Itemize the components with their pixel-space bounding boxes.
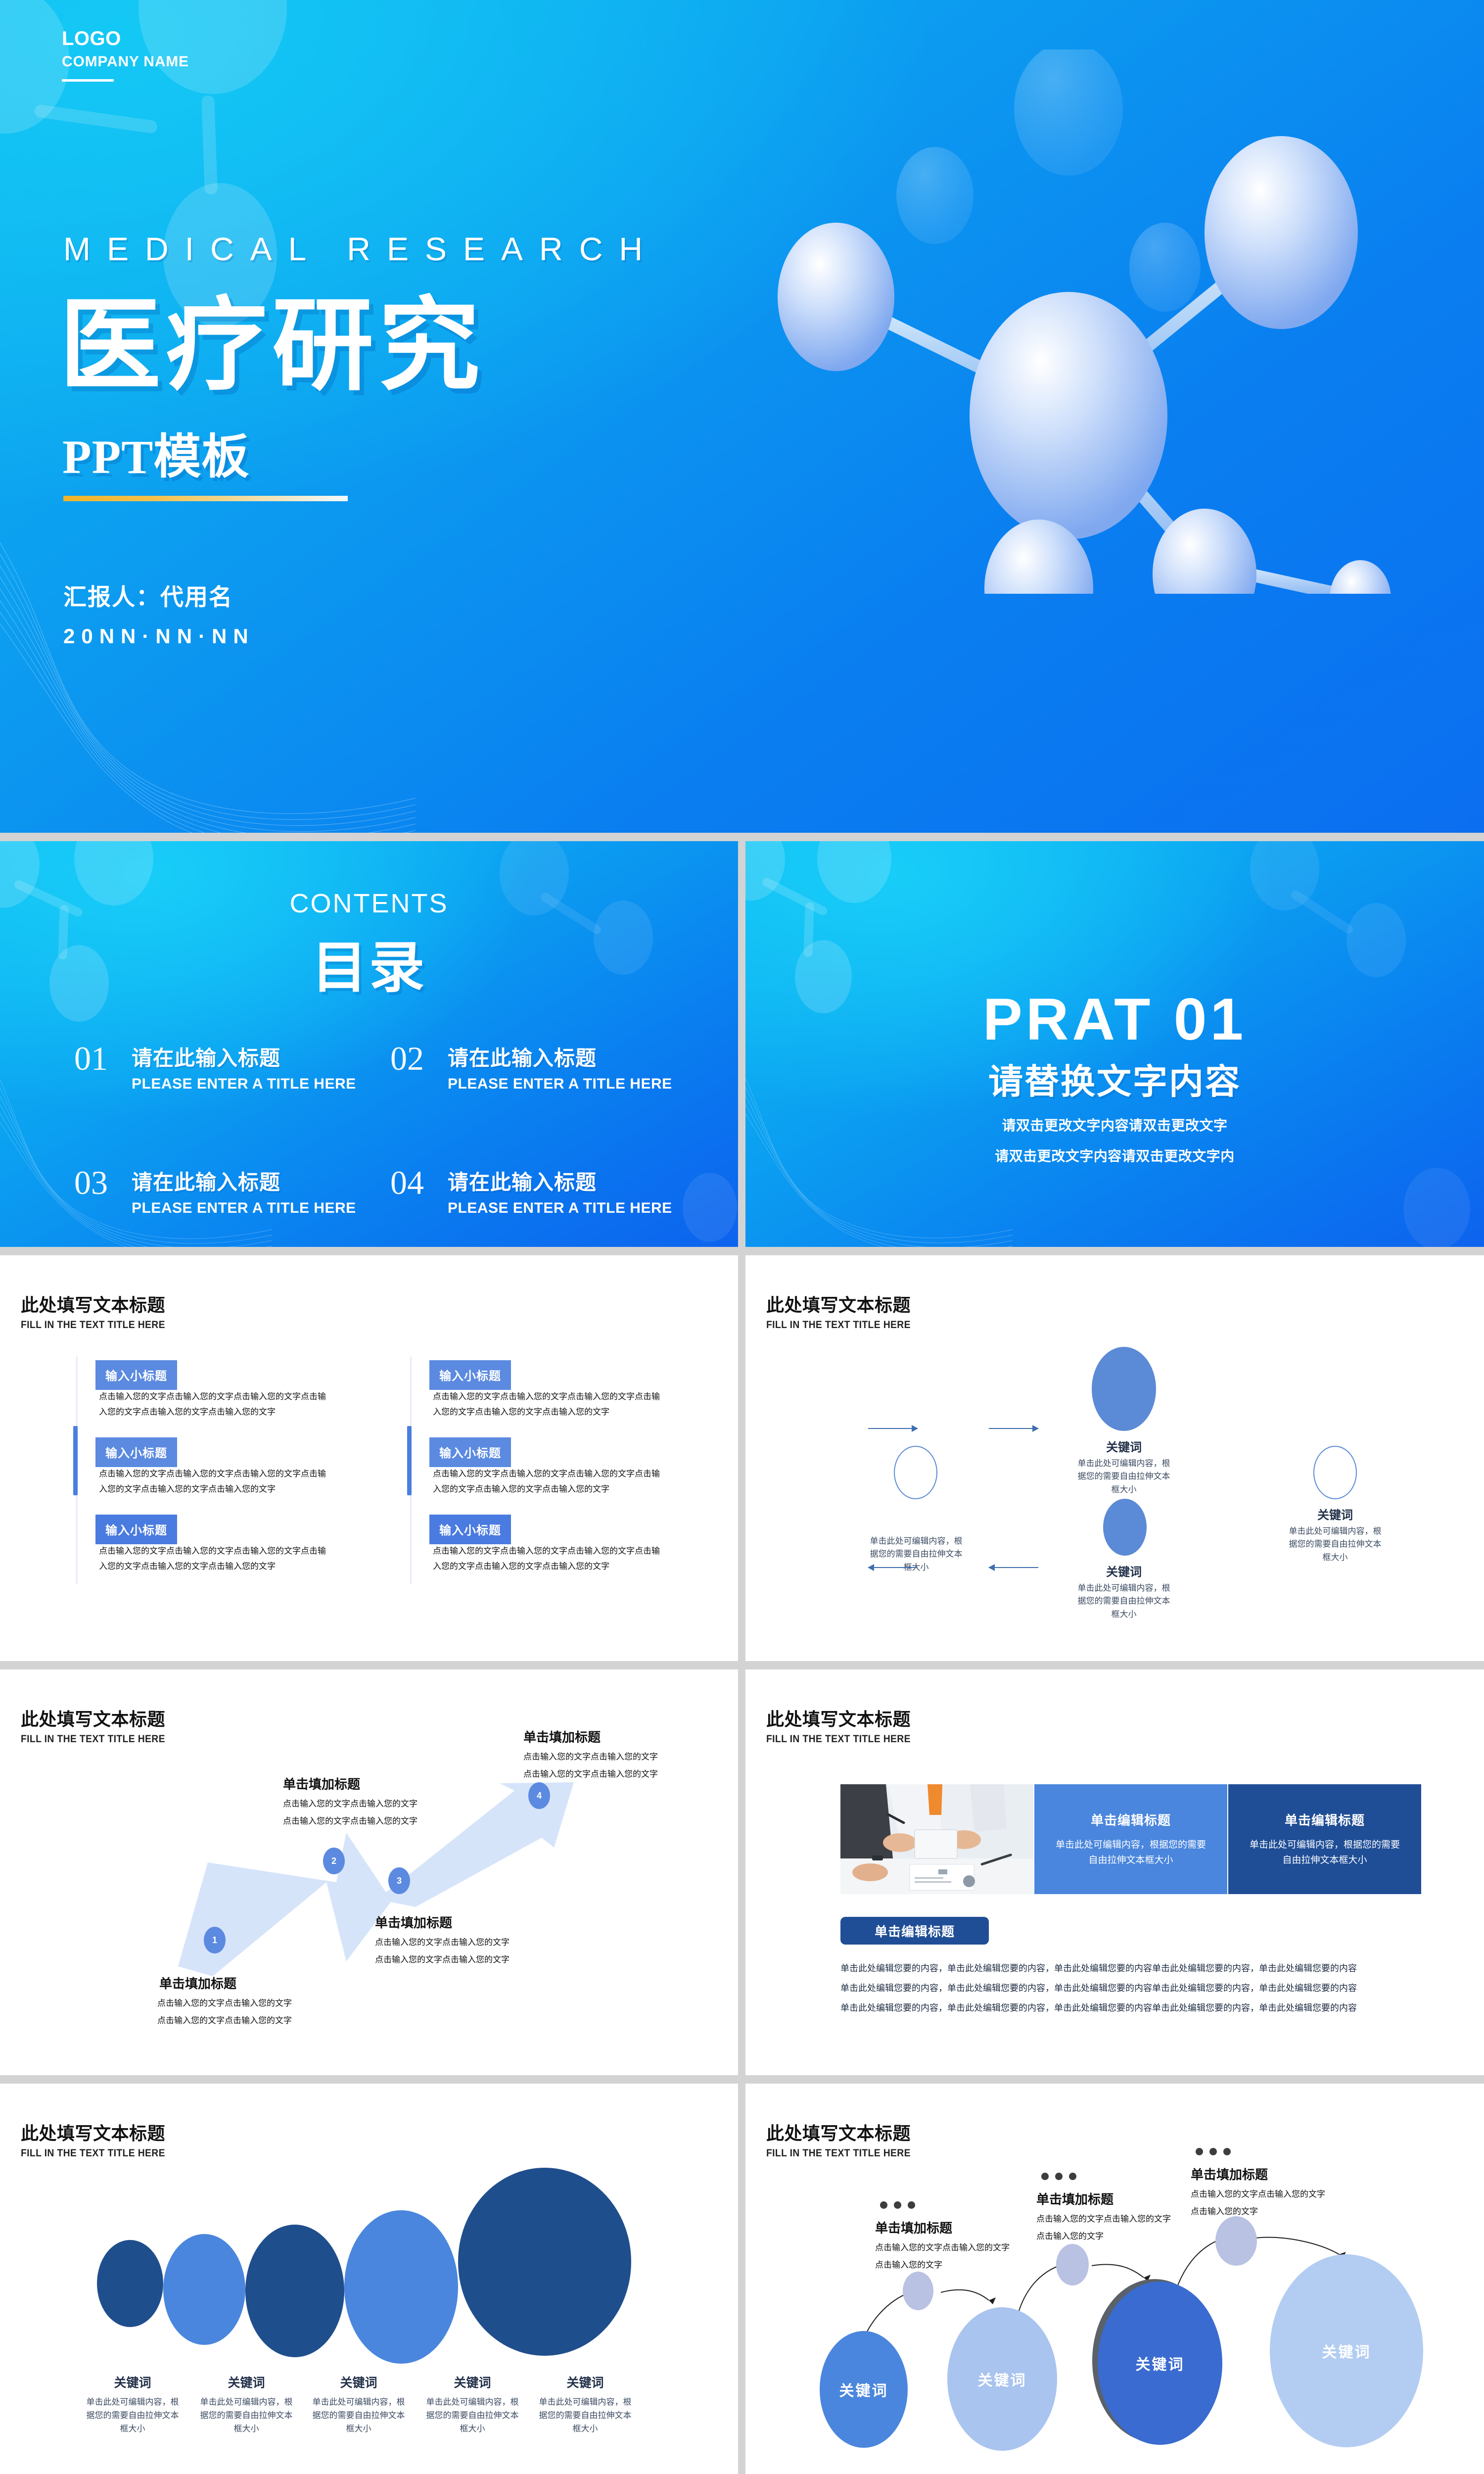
page-subtitle: FILL IN THE TEXT TITLE HERE xyxy=(21,1319,165,1331)
cycle-node-bottom[interactable] xyxy=(1103,1499,1147,1556)
step-title-1: 单击填加标题 xyxy=(159,1974,236,1992)
slide-table-of-contents: CONTENTS 目录 01 请在此输入标题 PLEASE ENTER A TI… xyxy=(0,841,738,1247)
cycle-body-right: 单击此处可编辑内容，根据您的需要自由拉伸文本框大小 xyxy=(1286,1525,1385,1564)
cover-chinese-title: 医疗研究 xyxy=(59,292,485,401)
slide-bubble-flow-chart: 此处填写文本标题 FILL IN THE TEXT TITLE HERE xyxy=(745,2084,1484,2474)
paragraph-line-3: 单击此处编辑您要的内容，单击此处编辑您要的内容，单击此处编辑您要的内容单击此处编… xyxy=(840,1998,1357,2018)
chart-caption-3-label: 关键词 xyxy=(309,2373,408,2391)
annotation-line-3a: 点击输入您的文字点击输入您的文字 xyxy=(1191,2186,1325,2202)
info-card-1[interactable]: 单击编辑标题 单击此处可编辑内容，根据您的需要自由拉伸文本框大小 xyxy=(1034,1784,1227,1894)
bubble-2[interactable]: 关键词 xyxy=(947,2307,1057,2451)
subtitle-chip-3[interactable]: 输入小标题 xyxy=(95,1515,177,1544)
step-marker-4[interactable]: 4 xyxy=(528,1782,550,1809)
annotation-line-1b: 点击输入您的文字 xyxy=(875,2257,942,2273)
cycle-arrow-top-left xyxy=(868,1428,918,1429)
chart-caption-4-label: 关键词 xyxy=(423,2373,522,2391)
company-name-text: COMPANY NAME xyxy=(62,53,189,70)
section-line-2: 请双击更改文字内容请双击更改文字内 xyxy=(745,1145,1484,1165)
chart-ellipse-1 xyxy=(97,2240,163,2327)
paragraph-line-1: 单击此处编辑您要的内容，单击此处编辑您要的内容，单击此处编辑您要的内容单击此处编… xyxy=(840,1959,1357,1978)
step-body-3-line2: 点击输入您的文字点击输入您的文字 xyxy=(375,1951,510,1968)
dots-decoration-3 xyxy=(1196,2148,1231,2155)
page-subtitle: FILL IN THE TEXT TITLE HERE xyxy=(766,1319,911,1331)
toc-item-subtitle: PLEASE ENTER A TITLE HERE xyxy=(132,1076,356,1093)
deck-row-5: 此处填写文本标题 FILL IN THE TEXT TITLE HERE 关键词… xyxy=(0,2084,1484,2474)
chart-caption-2-label: 关键词 xyxy=(197,2373,296,2391)
cover-date: 20NN·NN·NN xyxy=(63,624,255,648)
zigzag-arrow-shape xyxy=(0,1669,738,2075)
section-pill-button[interactable]: 单击编辑标题 xyxy=(840,1917,989,1945)
paragraph-line-2: 单击此处编辑您要的内容，单击此处编辑您要的内容，单击此处编辑您要的内容单击此处编… xyxy=(840,1979,1357,1998)
step-body-2-line2: 点击输入您的文字点击输入您的文字 xyxy=(283,1813,417,1829)
page-title: 此处填写文本标题 xyxy=(21,1291,178,1317)
info-card-2-title: 单击编辑标题 xyxy=(1285,1810,1365,1829)
slide-cover: LOGO COMPANY NAME MEDICAL RESEARCH 医疗研究 … xyxy=(0,0,1484,833)
slide-cycle-diagram: 此处填写文本标题 FILL IN THE TEXT TITLE HERE 关键词… xyxy=(745,1255,1484,1661)
bubble-3[interactable]: 关键词 xyxy=(1098,2282,1222,2445)
subtitle-body-5: 点击输入您的文字点击输入您的文字点击输入您的文字点击输入您的文字点击输入您的文字… xyxy=(433,1466,665,1497)
cycle-body-bottom: 单击此处可编辑内容，根据您的需要自由拉伸文本框大小 xyxy=(1074,1582,1173,1621)
cycle-node-left[interactable] xyxy=(894,1446,937,1499)
subtitle-body-2: 点击输入您的文字点击输入您的文字点击输入您的文字点击输入您的文字点击输入您的文字… xyxy=(99,1466,331,1497)
connector-bubble-2 xyxy=(1056,2244,1089,2285)
step-body-1-line1: 点击输入您的文字点击输入您的文字 xyxy=(157,1995,292,2011)
dots-decoration-1 xyxy=(880,2201,915,2209)
step-title-4: 单击填加标题 xyxy=(523,1727,601,1746)
page-subtitle: FILL IN THE TEXT TITLE HERE xyxy=(766,1733,911,1745)
page-title: 此处填写文本标题 xyxy=(766,1705,923,1731)
toc-number: 02 xyxy=(390,1042,436,1075)
toc-english-label: CONTENTS xyxy=(0,888,738,919)
section-line-1: 请双击更改文字内容请双击更改文字 xyxy=(745,1115,1484,1135)
deck-row-2: CONTENTS 目录 01 请在此输入标题 PLEASE ENTER A TI… xyxy=(0,841,1484,1247)
step-marker-1[interactable]: 1 xyxy=(204,1927,226,1953)
info-card-1-title: 单击编辑标题 xyxy=(1091,1810,1171,1829)
team-meeting-photo xyxy=(840,1784,1033,1894)
cover-subtitle: PPT模板 xyxy=(62,418,249,487)
cycle-arrow-bottom-right xyxy=(989,1567,1038,1568)
logo-text: LOGO xyxy=(62,28,189,49)
chart-caption-3: 关键词 单击此处可编辑内容，根据您的需要自由拉伸文本框大小 xyxy=(309,2373,408,2436)
slide-header: 此处填写文本标题 FILL IN THE TEXT TITLE HERE xyxy=(766,1705,923,1745)
info-card-1-body: 单击此处可编辑内容，根据您的需要自由拉伸文本框大小 xyxy=(1051,1838,1210,1868)
deck-row-1: LOGO COMPANY NAME MEDICAL RESEARCH 医疗研究 … xyxy=(0,0,1484,833)
subtitle-chip-4[interactable]: 输入小标题 xyxy=(429,1360,511,1390)
step-marker-2[interactable]: 2 xyxy=(323,1848,345,1874)
page-title: 此处填写文本标题 xyxy=(21,2119,178,2145)
cover-english-title: MEDICAL RESEARCH xyxy=(63,230,659,268)
chart-caption-1-desc: 单击此处可编辑内容，根据您的需要自由拉伸文本框大小 xyxy=(83,2395,182,2436)
rail-highlight-right xyxy=(407,1426,412,1495)
toc-item-04[interactable]: 04 请在此输入标题 PLEASE ENTER A TITLE HERE xyxy=(390,1166,678,1217)
slide-header: 此处填写文本标题 FILL IN THE TEXT TITLE HERE xyxy=(21,2119,178,2159)
deck-row-4: 此处填写文本标题 FILL IN THE TEXT TITLE HERE 1 2… xyxy=(0,1669,1484,2075)
chart-ellipse-2 xyxy=(163,2234,245,2345)
slide-header: 此处填写文本标题 FILL IN THE TEXT TITLE HERE xyxy=(21,1291,178,1331)
annotation-line-1a: 点击输入您的文字点击输入您的文字 xyxy=(875,2239,1010,2256)
annotation-line-2a: 点击输入您的文字点击输入您的文字 xyxy=(1036,2211,1171,2227)
page-title: 此处填写文本标题 xyxy=(766,1291,923,1317)
connector-bubble-3 xyxy=(1215,2216,1257,2266)
cover-accent-bar xyxy=(63,496,348,501)
toc-number: 01 xyxy=(74,1042,120,1075)
wave-lines-decoration xyxy=(0,476,416,833)
annotation-title-1: 单击填加标题 xyxy=(875,2218,952,2236)
photo-illustration xyxy=(840,1784,1033,1894)
chart-caption-4: 关键词 单击此处可编辑内容，根据您的需要自由拉伸文本框大小 xyxy=(423,2373,522,2436)
toc-number: 03 xyxy=(74,1166,120,1199)
cycle-body-top: 单击此处可编辑内容，根据您的需要自由拉伸文本框大小 xyxy=(1074,1457,1173,1496)
bubble-1[interactable]: 关键词 xyxy=(820,2331,908,2448)
step-marker-3[interactable]: 3 xyxy=(388,1867,410,1894)
cycle-label-right: 关键词 xyxy=(1305,1505,1365,1522)
logo-underline xyxy=(62,79,114,82)
slide-text-blocks: 此处填写文本标题 FILL IN THE TEXT TITLE HERE 输入小… xyxy=(0,1255,738,1661)
annotation-line-3b: 点击输入您的文字 xyxy=(1191,2203,1258,2220)
toc-item-03[interactable]: 03 请在此输入标题 PLEASE ENTER A TITLE HERE xyxy=(74,1166,362,1217)
subtitle-body-4: 点击输入您的文字点击输入您的文字点击输入您的文字点击输入您的文字点击输入您的文字… xyxy=(433,1389,665,1420)
subtitle-chip-6[interactable]: 输入小标题 xyxy=(429,1515,511,1544)
toc-item-02[interactable]: 02 请在此输入标题 PLEASE ENTER A TITLE HERE xyxy=(390,1042,678,1093)
step-body-2-line1: 点击输入您的文字点击输入您的文字 xyxy=(283,1796,417,1812)
section-title: 请替换文字内容 xyxy=(745,1054,1484,1104)
molecule-graphic-icon xyxy=(693,49,1484,594)
info-card-2-body: 单击此处可编辑内容，根据您的需要自由拉伸文本框大小 xyxy=(1245,1838,1404,1868)
cycle-arrow-bottom-left xyxy=(868,1567,918,1568)
toc-item-title: 请在此输入标题 xyxy=(132,1166,356,1196)
chart-caption-3-desc: 单击此处可编辑内容，根据您的需要自由拉伸文本框大小 xyxy=(309,2395,408,2436)
chart-caption-1-label: 关键词 xyxy=(83,2373,182,2391)
chart-caption-5: 关键词 单击此处可编辑内容，根据您的需要自由拉伸文本框大小 xyxy=(536,2373,635,2436)
toc-item-subtitle: PLEASE ENTER A TITLE HERE xyxy=(448,1200,672,1217)
cycle-label-top: 关键词 xyxy=(1094,1437,1154,1455)
toc-chinese-label: 目录 xyxy=(0,923,738,1003)
section-number: PRAT 01 xyxy=(745,990,1484,1049)
toc-item-title: 请在此输入标题 xyxy=(132,1042,356,1072)
subtitle-chip-2[interactable]: 输入小标题 xyxy=(95,1437,177,1467)
page-subtitle: FILL IN THE TEXT TITLE HERE xyxy=(21,2147,165,2159)
toc-item-subtitle: PLEASE ENTER A TITLE HERE xyxy=(448,1076,672,1093)
toc-item-01[interactable]: 01 请在此输入标题 PLEASE ENTER A TITLE HERE xyxy=(74,1042,362,1093)
chart-caption-4-desc: 单击此处可编辑内容，根据您的需要自由拉伸文本框大小 xyxy=(423,2395,522,2436)
deck-row-3: 此处填写文本标题 FILL IN THE TEXT TITLE HERE 输入小… xyxy=(0,1255,1484,1661)
annotation-title-2: 单击填加标题 xyxy=(1036,2189,1113,2208)
chart-ellipse-5 xyxy=(458,2168,631,2356)
cover-presenter: 汇报人：代用名 xyxy=(63,578,233,612)
bubble-4[interactable]: 关键词 xyxy=(1270,2254,1423,2447)
dots-decoration-2 xyxy=(1041,2173,1076,2180)
toc-item-grid: 01 请在此输入标题 PLEASE ENTER A TITLE HERE 02 … xyxy=(74,1042,678,1217)
cycle-label-bottom: 关键词 xyxy=(1094,1562,1154,1579)
info-card-2[interactable]: 单击编辑标题 单击此处可编辑内容，根据您的需要自由拉伸文本框大小 xyxy=(1228,1784,1421,1894)
subtitle-body-6: 点击输入您的文字点击输入您的文字点击输入您的文字点击输入您的文字点击输入您的文字… xyxy=(433,1543,665,1574)
toc-item-title: 请在此输入标题 xyxy=(448,1166,672,1196)
chart-ellipse-4 xyxy=(344,2210,458,2364)
slide-deck: LOGO COMPANY NAME MEDICAL RESEARCH 医疗研究 … xyxy=(0,0,1484,2474)
subtitle-body-3: 点击输入您的文字点击输入您的文字点击输入您的文字点击输入您的文字点击输入您的文字… xyxy=(99,1543,331,1574)
step-body-1-line2: 点击输入您的文字点击输入您的文字 xyxy=(157,2012,292,2029)
section-divider-text-block: PRAT 01 请替换文字内容 请双击更改文字内容请双击更改文字 请双击更改文字… xyxy=(745,990,1484,1165)
chart-caption-2: 关键词 单击此处可编辑内容，根据您的需要自由拉伸文本框大小 xyxy=(197,2373,296,2436)
cover-logo-block: LOGO COMPANY NAME xyxy=(62,28,189,82)
step-body-4-line2: 点击输入您的文字点击输入您的文字 xyxy=(523,1766,658,1782)
rail-highlight-left xyxy=(73,1426,78,1495)
chart-ellipse-3 xyxy=(245,2225,344,2357)
cycle-arrow-top-right xyxy=(989,1428,1038,1429)
step-title-3: 单击填加标题 xyxy=(375,1913,452,1931)
slide-growth-arrow: 此处填写文本标题 FILL IN THE TEXT TITLE HERE 1 2… xyxy=(0,1669,738,2075)
step-body-4-line1: 点击输入您的文字点击输入您的文字 xyxy=(523,1749,658,1765)
chart-caption-1: 关键词 单击此处可编辑内容，根据您的需要自由拉伸文本框大小 xyxy=(83,2373,182,2436)
subtitle-chip-5[interactable]: 输入小标题 xyxy=(429,1437,511,1467)
connector-bubble-1 xyxy=(903,2272,933,2310)
slide-graduated-ellipses-chart: 此处填写文本标题 FILL IN THE TEXT TITLE HERE 关键词… xyxy=(0,2084,738,2474)
toc-item-subtitle: PLEASE ENTER A TITLE HERE xyxy=(132,1200,356,1217)
subtitle-chip-1[interactable]: 输入小标题 xyxy=(95,1360,177,1390)
slide-photo-cards: 此处填写文本标题 FILL IN THE TEXT TITLE HERE xyxy=(745,1669,1484,2075)
annotation-title-3: 单击填加标题 xyxy=(1191,2165,1268,2183)
toc-item-title: 请在此输入标题 xyxy=(448,1042,672,1072)
chart-caption-5-desc: 单击此处可编辑内容，根据您的需要自由拉伸文本框大小 xyxy=(536,2395,635,2436)
cycle-body-left: 单击此处可编辑内容，根据您的需要自由拉伸文本框大小 xyxy=(867,1535,966,1574)
step-title-2: 单击填加标题 xyxy=(283,1774,360,1793)
toc-number: 04 xyxy=(390,1166,436,1199)
annotation-line-2b: 点击输入您的文字 xyxy=(1036,2228,1104,2244)
chart-caption-5-label: 关键词 xyxy=(536,2373,635,2391)
subtitle-body-1: 点击输入您的文字点击输入您的文字点击输入您的文字点击输入您的文字点击输入您的文字… xyxy=(99,1389,331,1420)
slide-section-divider: PRAT 01 请替换文字内容 请双击更改文字内容请双击更改文字 请双击更改文字… xyxy=(745,841,1484,1247)
slide-header: 此处填写文本标题 FILL IN THE TEXT TITLE HERE xyxy=(766,1291,923,1331)
step-body-3-line1: 点击输入您的文字点击输入您的文字 xyxy=(375,1934,510,1951)
cycle-node-right[interactable] xyxy=(1313,1446,1357,1499)
chart-caption-2-desc: 单击此处可编辑内容，根据您的需要自由拉伸文本框大小 xyxy=(197,2395,296,2436)
cycle-node-top[interactable] xyxy=(1092,1347,1156,1431)
